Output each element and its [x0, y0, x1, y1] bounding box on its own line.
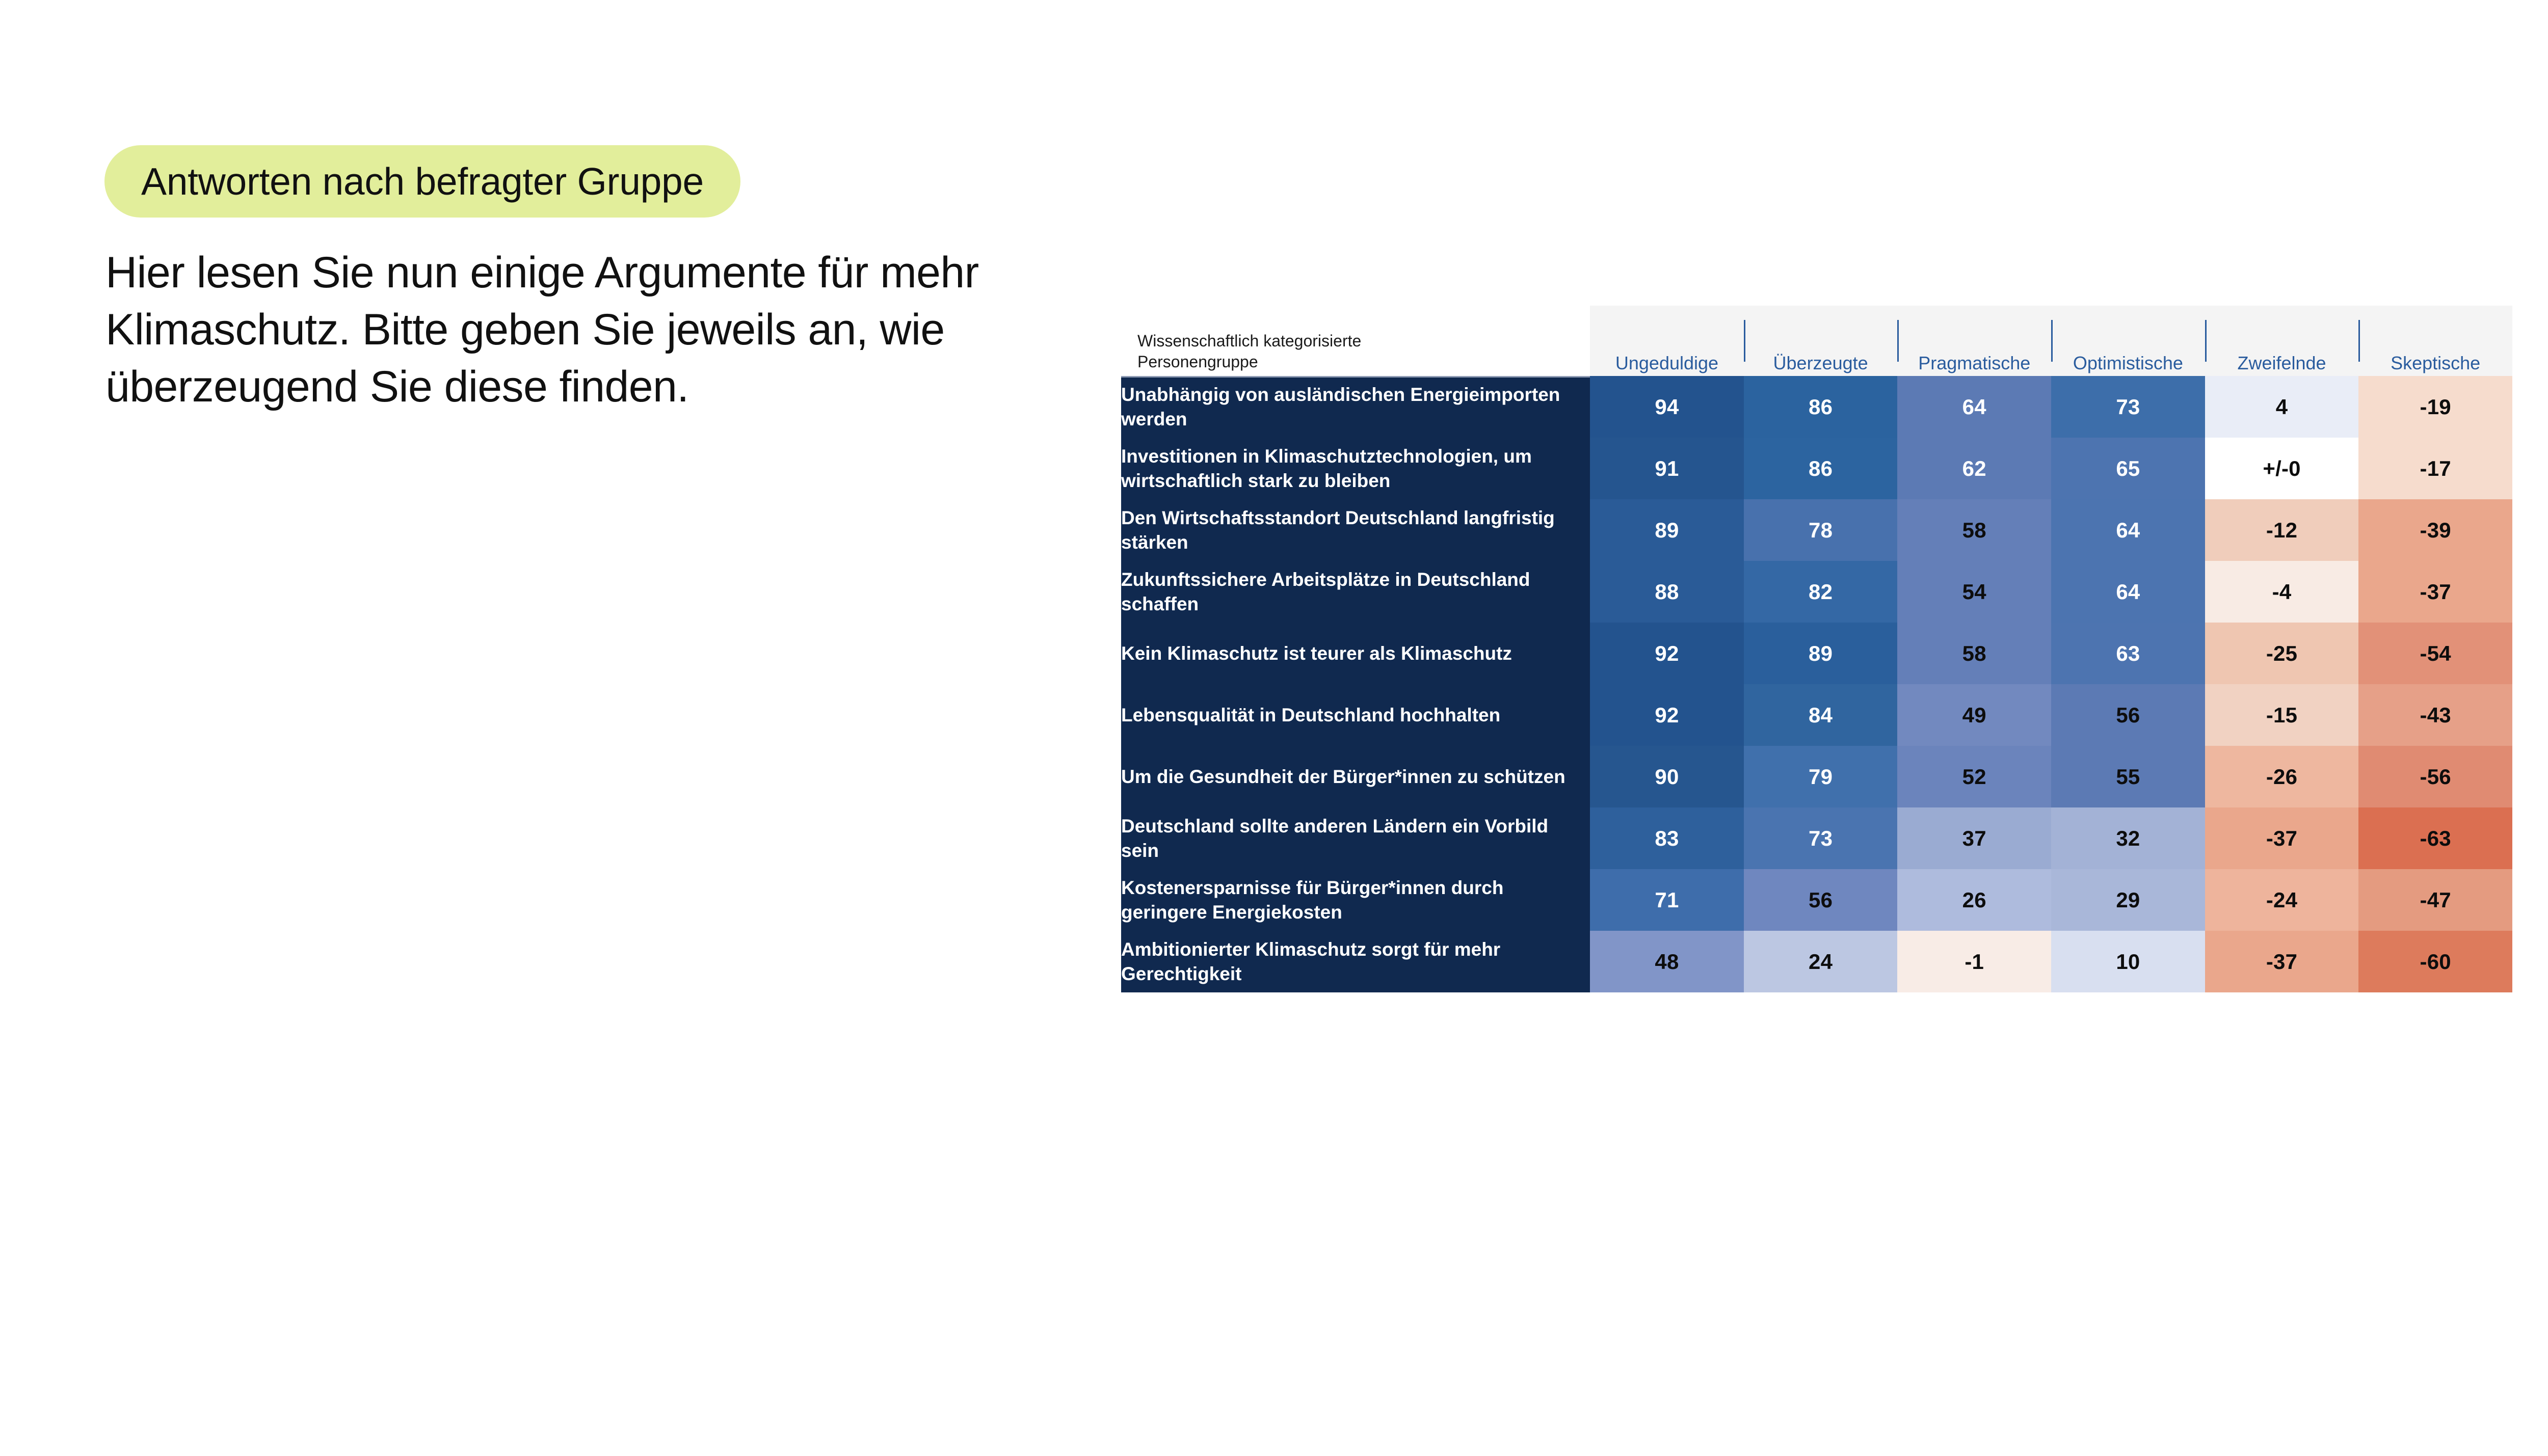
row-label: Kein Klimaschutz ist teurer als Klimasch… [1121, 623, 1590, 684]
column-header-optimistische[interactable]: Optimistische [2051, 306, 2205, 376]
heatmap-cell: +/-0 [2205, 438, 2359, 499]
heatmap-cell: 90 [1590, 746, 1744, 807]
column-divider-icon [2358, 320, 2360, 362]
heatmap-cell: 58 [1897, 499, 2051, 561]
heatmap-cell: 89 [1744, 623, 1898, 684]
column-header-label: Überzeugte [1744, 353, 1898, 376]
corner-header-label: Wissenschaftlich kategorisierte Personen… [1137, 331, 1464, 373]
heatmap-cell: 86 [1744, 438, 1898, 499]
heatmap-cell: -24 [2205, 869, 2359, 931]
heatmap-cell: 94 [1590, 376, 1744, 438]
heatmap-cell: 64 [2051, 499, 2205, 561]
heatmap-cell: 29 [2051, 869, 2205, 931]
column-header-ungeduldige[interactable]: Ungeduldige [1590, 306, 1744, 376]
row-label: Ambitionierter Klimaschutz sorgt für meh… [1121, 931, 1590, 992]
row-label: Zukunftssichere Arbeitsplätze in Deutsch… [1121, 561, 1590, 623]
table-header: Wissenschaftlich kategorisierte Personen… [1121, 306, 2512, 376]
heatmap-cell: 79 [1744, 746, 1898, 807]
heatmap-cell: -39 [2358, 499, 2512, 561]
heatmap-cell: -17 [2358, 438, 2512, 499]
heatmap-cell: 24 [1744, 931, 1898, 992]
table-row: Kostenersparnisse für Bürger*innen durch… [1121, 869, 2512, 931]
table-row: Deutschland sollte anderen Ländern ein V… [1121, 807, 2512, 869]
heatmap-cell: 88 [1590, 561, 1744, 623]
column-header-zweifelnde[interactable]: Zweifelnde [2205, 306, 2359, 376]
column-header-ueberzeugte[interactable]: Überzeugte [1744, 306, 1898, 376]
heatmap-cell: 82 [1744, 561, 1898, 623]
heatmap-cell: 56 [2051, 684, 2205, 746]
heatmap-cell: -47 [2358, 869, 2512, 931]
heatmap-cell: 32 [2051, 807, 2205, 869]
heatmap-cell: -4 [2205, 561, 2359, 623]
heatmap-cell: 48 [1590, 931, 1744, 992]
heatmap-cell: -1 [1897, 931, 2051, 992]
row-label: Deutschland sollte anderen Ländern ein V… [1121, 807, 1590, 869]
column-divider-icon [1744, 320, 1745, 362]
heatmap-cell: 54 [1897, 561, 2051, 623]
row-label: Den Wirtschaftsstandort Deutschland lang… [1121, 499, 1590, 561]
table-row: Kein Klimaschutz ist teurer als Klimasch… [1121, 623, 2512, 684]
heatmap-cell: 89 [1590, 499, 1744, 561]
row-label: Investitionen in Klimaschutztechnologien… [1121, 438, 1590, 499]
heatmap-cell: 73 [1744, 807, 1898, 869]
survey-heatmap-table: Wissenschaftlich kategorisierte Personen… [1121, 306, 2512, 992]
heatmap-cell: -19 [2358, 376, 2512, 438]
heatmap-cell: -15 [2205, 684, 2359, 746]
heatmap-cell: 62 [1897, 438, 2051, 499]
heatmap-cell: 84 [1744, 684, 1898, 746]
heatmap-cell: -37 [2205, 807, 2359, 869]
heatmap-cell: 92 [1590, 684, 1744, 746]
heatmap-cell: -12 [2205, 499, 2359, 561]
column-header-label: Skeptische [2358, 353, 2512, 376]
heatmap-cell: 55 [2051, 746, 2205, 807]
row-label: Unabhängig von ausländischen Energieimpo… [1121, 376, 1590, 438]
heatmap-cell: 64 [2051, 561, 2205, 623]
heatmap-cell: 63 [2051, 623, 2205, 684]
table-row: Um die Gesundheit der Bürger*innen zu sc… [1121, 746, 2512, 807]
heatmap-cell: 10 [2051, 931, 2205, 992]
heatmap-cell: -56 [2358, 746, 2512, 807]
column-header-label: Pragmatische [1897, 353, 2051, 376]
column-header-skeptische[interactable]: Skeptische [2358, 306, 2512, 376]
column-divider-icon [2205, 320, 2207, 362]
heatmap-cell: 37 [1897, 807, 2051, 869]
heatmap-cell: 71 [1590, 869, 1744, 931]
table-body: Unabhängig von ausländischen Energieimpo… [1121, 376, 2512, 992]
table-row: Investitionen in Klimaschutztechnologien… [1121, 438, 2512, 499]
heatmap-cell: 91 [1590, 438, 1744, 499]
table-row: Zukunftssichere Arbeitsplätze in Deutsch… [1121, 561, 2512, 623]
header-row: Wissenschaftlich kategorisierte Personen… [1121, 306, 2512, 376]
heatmap-cell: 65 [2051, 438, 2205, 499]
column-divider-icon [1897, 320, 1899, 362]
column-divider-icon [2051, 320, 2053, 362]
heatmap-cell: -25 [2205, 623, 2359, 684]
kicker-badge: Antworten nach befragter Gruppe [104, 145, 740, 218]
heatmap-cell: -43 [2358, 684, 2512, 746]
heatmap-cell: -26 [2205, 746, 2359, 807]
heatmap-cell: -37 [2358, 561, 2512, 623]
heatmap-cell: 49 [1897, 684, 2051, 746]
table-row: Unabhängig von ausländischen Energieimpo… [1121, 376, 2512, 438]
heatmap-cell: 64 [1897, 376, 2051, 438]
table-row: Ambitionierter Klimaschutz sorgt für meh… [1121, 931, 2512, 992]
table-row: Den Wirtschaftsstandort Deutschland lang… [1121, 499, 2512, 561]
table-row: Lebensqualität in Deutschland hochhalten… [1121, 684, 2512, 746]
column-header-pragmatische[interactable]: Pragmatische [1897, 306, 2051, 376]
question-text: Hier lesen Sie nun einige Argumente für … [105, 245, 1074, 415]
left-text-panel: Antworten nach befragter Gruppe Hier les… [0, 0, 1096, 1456]
column-header-label: Optimistische [2051, 353, 2205, 376]
heatmap-cell: -54 [2358, 623, 2512, 684]
column-header-label: Ungeduldige [1590, 353, 1744, 376]
heatmap-cell: -60 [2358, 931, 2512, 992]
column-header-label: Zweifelnde [2205, 353, 2359, 376]
row-label: Lebensqualität in Deutschland hochhalten [1121, 684, 1590, 746]
heatmap-cell: 78 [1744, 499, 1898, 561]
row-label: Um die Gesundheit der Bürger*innen zu sc… [1121, 746, 1590, 807]
heatmap-cell: 52 [1897, 746, 2051, 807]
kicker-label: Antworten nach befragter Gruppe [141, 159, 704, 203]
row-label: Kostenersparnisse für Bürger*innen durch… [1121, 869, 1590, 931]
heatmap-cell: 83 [1590, 807, 1744, 869]
corner-header-cell: Wissenschaftlich kategorisierte Personen… [1121, 306, 1590, 376]
heatmap-cell: -63 [2358, 807, 2512, 869]
heatmap-cell: 56 [1744, 869, 1898, 931]
heatmap-cell: -37 [2205, 931, 2359, 992]
heatmap-cell: 73 [2051, 376, 2205, 438]
heatmap-cell: 4 [2205, 376, 2359, 438]
heatmap-cell: 26 [1897, 869, 2051, 931]
heatmap-cell: 86 [1744, 376, 1898, 438]
heatmap-cell: 92 [1590, 623, 1744, 684]
heatmap-cell: 58 [1897, 623, 2051, 684]
